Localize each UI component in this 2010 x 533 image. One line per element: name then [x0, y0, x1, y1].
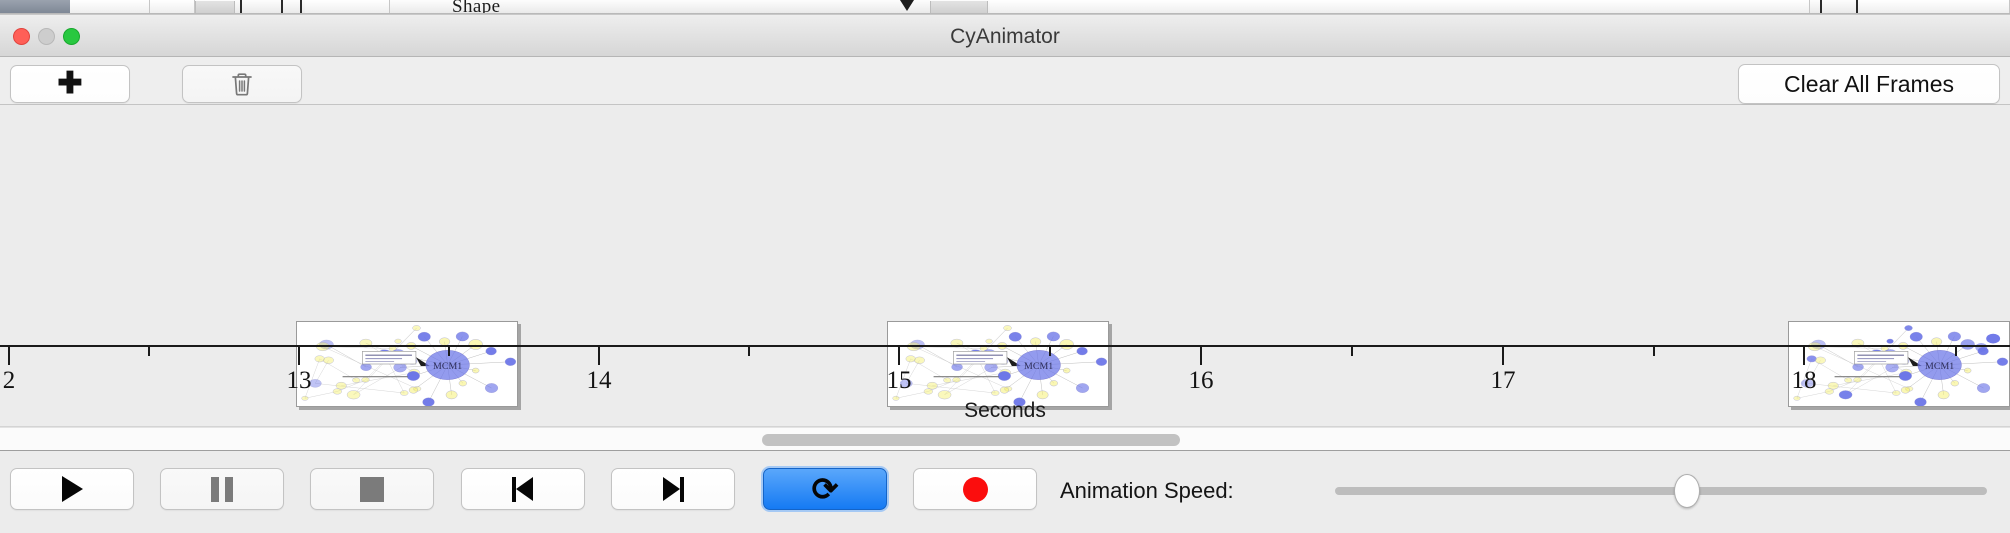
axis-tick-major — [898, 347, 900, 365]
stop-icon — [360, 477, 384, 502]
frames-area[interactable]: MCM1 MCM1 MCM1 — [0, 105, 2010, 353]
axis-tick-minor — [1049, 347, 1051, 356]
axis-tick-label: 18 — [1792, 367, 1817, 395]
animation-speed-slider[interactable] — [1335, 487, 1987, 495]
background-tick — [300, 0, 302, 14]
axis-tick-major — [1200, 347, 1202, 365]
background-app-strip: Shape — [0, 0, 2010, 14]
frame-toolbar: ✚ Clear All Frames — [0, 57, 2010, 105]
axis-tick-major — [8, 347, 10, 365]
axis-tick-label: 14 — [587, 367, 612, 395]
axis-tick-minor — [1955, 347, 1957, 356]
loop-icon: ⟳ — [812, 473, 839, 505]
axis-tick-label: 15 — [887, 367, 912, 395]
background-cell — [70, 0, 150, 14]
background-tick — [281, 0, 283, 14]
slider-thumb[interactable] — [1674, 474, 1700, 508]
record-button[interactable] — [913, 468, 1037, 510]
pause-button — [160, 468, 284, 510]
playback-controls: Animation Speed: ⟳ — [0, 451, 2010, 533]
skip-forward-icon — [661, 477, 685, 502]
axis-title: Seconds — [0, 399, 2010, 423]
time-axis: Seconds 2131415161718 — [0, 345, 2010, 427]
axis-tick-minor — [1351, 347, 1353, 356]
add-frame-button[interactable]: ✚ — [10, 65, 130, 103]
axis-tick-minor — [1653, 347, 1655, 356]
skip-back-icon — [511, 477, 535, 502]
skip-start-button[interactable] — [461, 468, 585, 510]
background-caret-icon — [900, 0, 914, 11]
background-dark-block — [0, 0, 70, 14]
clear-all-frames-button[interactable]: Clear All Frames — [1738, 64, 2000, 104]
stop-button — [310, 468, 434, 510]
axis-tick-major — [298, 347, 300, 365]
axis-tick-label: 2 — [3, 367, 16, 395]
play-button[interactable] — [10, 468, 134, 510]
cyanimator-window: CyAnimator ✚ Clear All Frames MCM1 — [0, 14, 2010, 510]
axis-tick-label: 16 — [1189, 367, 1214, 395]
axis-tick-major — [1803, 347, 1805, 365]
background-tick — [1820, 0, 1822, 14]
background-cell — [305, 0, 390, 14]
axis-tick-major — [1502, 347, 1504, 365]
background-app-label: Shape — [452, 0, 500, 14]
window-titlebar: CyAnimator — [0, 15, 2010, 57]
animation-speed-label: Animation Speed: — [1060, 478, 1234, 504]
timeline-scrollbar-thumb[interactable] — [762, 434, 1180, 446]
background-cell — [150, 0, 195, 14]
skip-end-button[interactable] — [611, 468, 735, 510]
clear-all-frames-label: Clear All Frames — [1784, 71, 1954, 98]
record-icon — [963, 477, 988, 502]
pause-icon — [211, 477, 233, 502]
background-tick — [1856, 0, 1858, 14]
axis-tick-major — [598, 347, 600, 365]
axis-tick-label: 13 — [287, 367, 312, 395]
window-title: CyAnimator — [0, 25, 2010, 49]
slider-track[interactable] — [1335, 487, 1987, 495]
background-tick — [240, 0, 242, 14]
background-grey-block — [930, 1, 988, 13]
axis-tick-label: 17 — [1491, 367, 1516, 395]
axis-tick-minor — [148, 347, 150, 356]
delete-frame-button[interactable] — [182, 65, 302, 103]
axis-line — [0, 345, 2010, 347]
timeline-panel[interactable]: MCM1 MCM1 MCM1 Seconds 2131415161718 — [0, 105, 2010, 427]
axis-tick-minor — [448, 347, 450, 356]
loop-button[interactable]: ⟳ — [763, 468, 887, 510]
background-cell — [990, 0, 1810, 14]
plus-icon: ✚ — [57, 69, 82, 99]
play-icon — [62, 476, 83, 502]
timeline-scrollbar[interactable] — [0, 427, 2010, 451]
axis-tick-minor — [748, 347, 750, 356]
background-cell — [1860, 0, 2010, 14]
trash-icon — [230, 70, 254, 98]
background-grey-block — [195, 1, 235, 13]
